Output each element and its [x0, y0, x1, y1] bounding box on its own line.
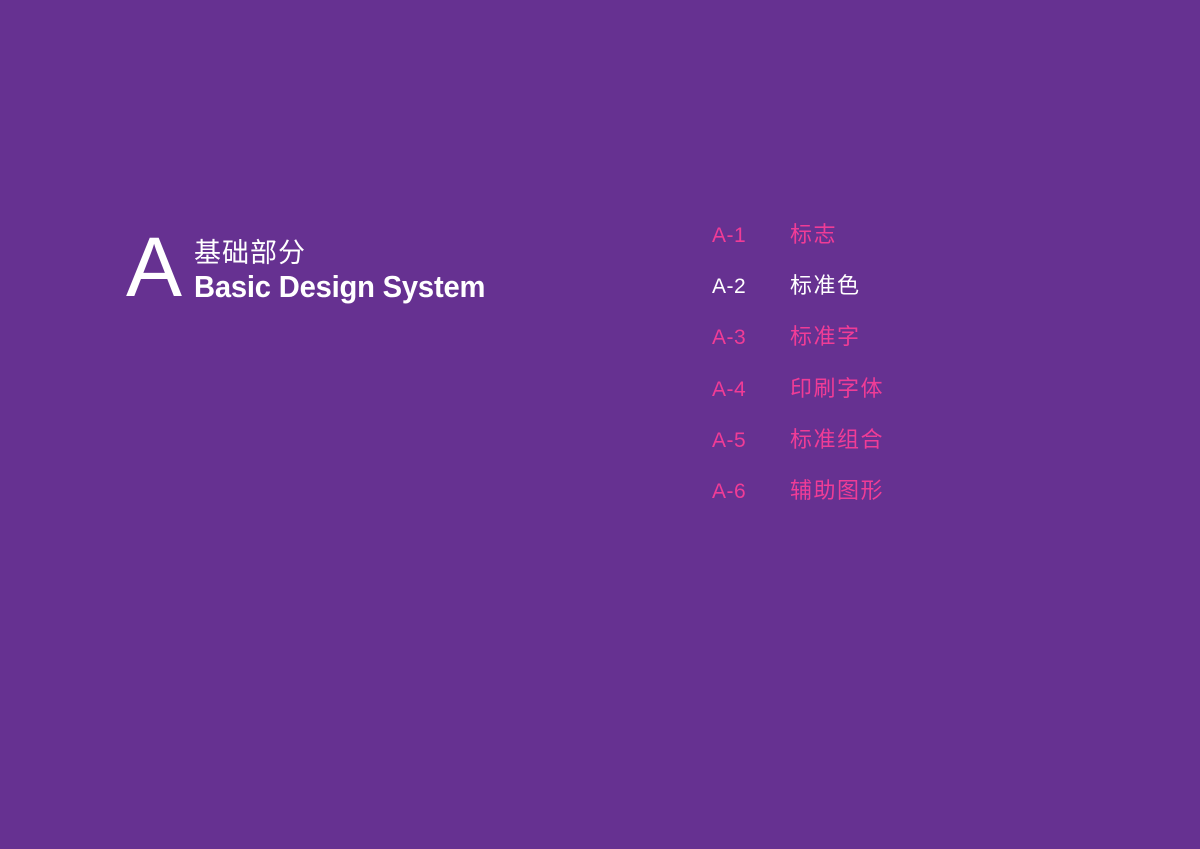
- section-letter: A: [126, 231, 181, 305]
- section-title-chinese: 基础部分: [194, 238, 504, 270]
- index-row[interactable]: A-1标志: [712, 224, 884, 275]
- brand-guideline-divider-page: A 基础部分 Basic Design System A-1标志A-2标准色A-…: [0, 0, 1200, 849]
- index-item-code: A-5: [712, 430, 790, 451]
- section-index-list: A-1标志A-2标准色A-3标准字A-4印刷字体A-5标准组合A-6辅助图形: [712, 224, 884, 531]
- section-title-english: Basic Design System: [194, 270, 485, 304]
- index-item-code: A-6: [712, 481, 790, 502]
- index-row[interactable]: A-6辅助图形: [712, 480, 884, 531]
- index-item-label: 印刷字体: [790, 378, 884, 400]
- index-row[interactable]: A-3标准字: [712, 326, 884, 377]
- section-title-block: A 基础部分 Basic Design System: [126, 228, 504, 302]
- index-item-code: A-1: [712, 225, 790, 246]
- section-title-text: 基础部分 Basic Design System: [194, 238, 504, 304]
- index-item-label: 辅助图形: [790, 480, 884, 502]
- index-item-code: A-4: [712, 379, 790, 400]
- index-item-code: A-3: [712, 327, 790, 348]
- index-row[interactable]: A-2标准色: [712, 275, 884, 326]
- index-item-label: 标志: [790, 224, 837, 246]
- index-item-label: 标准字: [790, 326, 861, 348]
- index-row[interactable]: A-5标准组合: [712, 429, 884, 480]
- index-item-label: 标准色: [790, 275, 861, 297]
- index-item-label: 标准组合: [790, 429, 884, 451]
- index-item-code: A-2: [712, 276, 790, 297]
- index-row[interactable]: A-4印刷字体: [712, 378, 884, 429]
